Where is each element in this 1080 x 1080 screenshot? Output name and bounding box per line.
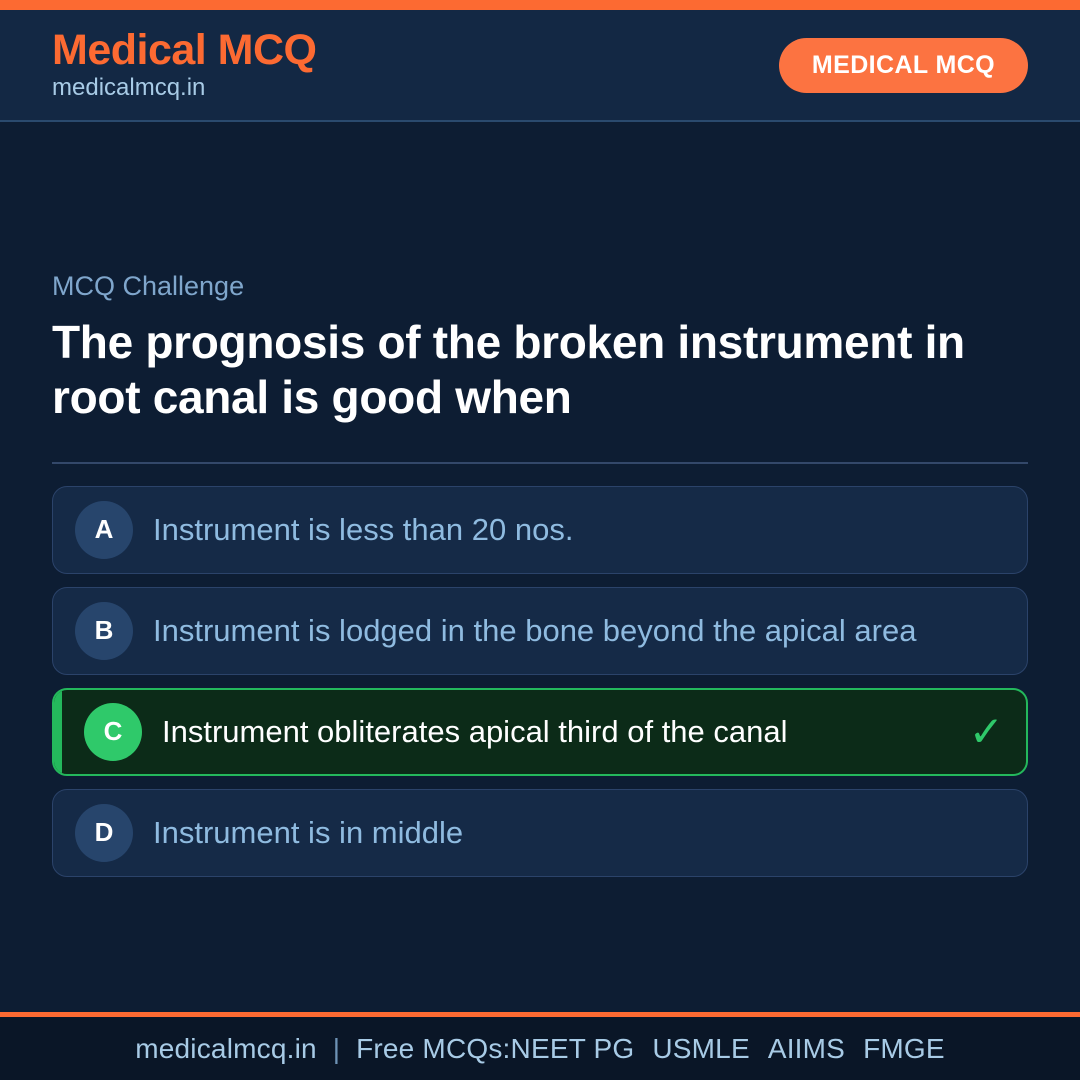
option-d[interactable]: D Instrument is in middle xyxy=(52,789,1028,877)
question-block: MCQ Challenge The prognosis of the broke… xyxy=(52,270,1028,424)
main-content: MCQ Challenge The prognosis of the broke… xyxy=(0,122,1080,1012)
option-text: Instrument is in middle xyxy=(153,814,1005,853)
brand-title: Medical MCQ xyxy=(52,28,317,73)
footer: medicalmcq.in | Free MCQs: NEET PG USMLE… xyxy=(0,1012,1080,1080)
footer-prefix: Free MCQs: xyxy=(356,1033,510,1065)
footer-exam-usmle[interactable]: USMLE xyxy=(652,1033,749,1065)
option-text: Instrument is lodged in the bone beyond … xyxy=(153,612,1005,651)
top-accent-bar xyxy=(0,0,1080,10)
header: Medical MCQ medicalmcq.in MEDICAL MCQ xyxy=(0,10,1080,122)
option-letter-badge: A xyxy=(75,501,133,559)
option-c-correct[interactable]: C Instrument obliterates apical third of… xyxy=(52,688,1028,776)
option-text: Instrument is less than 20 nos. xyxy=(153,511,1005,550)
option-a[interactable]: A Instrument is less than 20 nos. xyxy=(52,486,1028,574)
question-divider xyxy=(52,462,1028,464)
footer-exam-aiims[interactable]: AIIMS xyxy=(768,1033,845,1065)
footer-separator: | xyxy=(317,1033,356,1065)
options-list: A Instrument is less than 20 nos. B Inst… xyxy=(52,486,1028,877)
option-text: Instrument obliterates apical third of t… xyxy=(162,713,967,752)
mcq-card: Medical MCQ medicalmcq.in MEDICAL MCQ MC… xyxy=(0,0,1080,1080)
footer-site[interactable]: medicalmcq.in xyxy=(135,1033,317,1065)
header-badge: MEDICAL MCQ xyxy=(779,38,1028,93)
option-letter-badge: B xyxy=(75,602,133,660)
footer-exam-list: NEET PG USMLE AIIMS FMGE xyxy=(511,1033,945,1065)
check-icon: ✓ xyxy=(969,711,1004,753)
option-b[interactable]: B Instrument is lodged in the bone beyon… xyxy=(52,587,1028,675)
brand-domain: medicalmcq.in xyxy=(52,75,317,101)
question-kicker: MCQ Challenge xyxy=(52,270,1028,302)
brand-block: Medical MCQ medicalmcq.in xyxy=(52,28,317,102)
option-letter-badge: D xyxy=(75,804,133,862)
footer-exam-neet-pg[interactable]: NEET PG xyxy=(511,1033,635,1065)
footer-exam-fmge[interactable]: FMGE xyxy=(863,1033,945,1065)
option-letter-badge: C xyxy=(84,703,142,761)
question-title: The prognosis of the broken instrument i… xyxy=(52,315,1002,424)
